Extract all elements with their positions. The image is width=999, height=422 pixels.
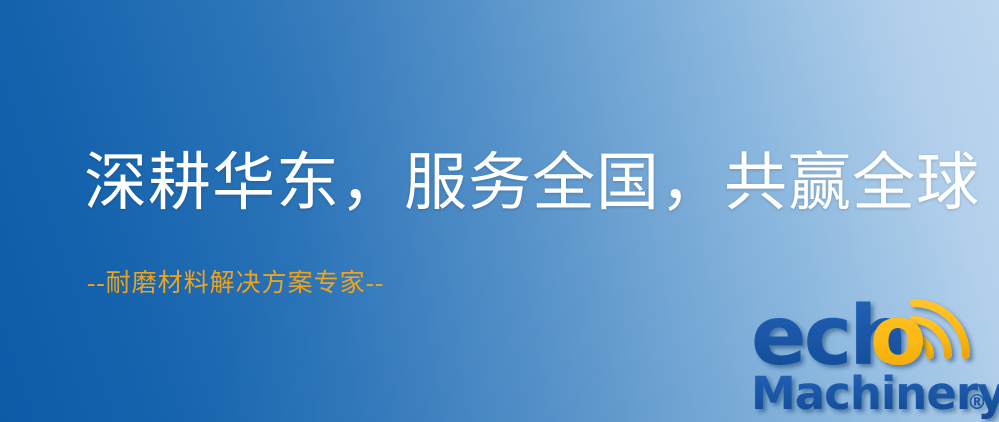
echo-machinery-logo[interactable]: ech o Machinery ® xyxy=(745,292,999,422)
logo-tagline: Machinery xyxy=(751,367,999,420)
hero-banner: 深耕华东，服务全国，共赢全球 --耐磨材料解决方案专家-- xyxy=(0,0,999,422)
banner-headline: 深耕华东，服务全国，共赢全球 xyxy=(84,152,980,215)
banner-subtitle: --耐磨材料解决方案专家-- xyxy=(87,271,384,296)
logo-registered-mark: ® xyxy=(967,390,987,414)
